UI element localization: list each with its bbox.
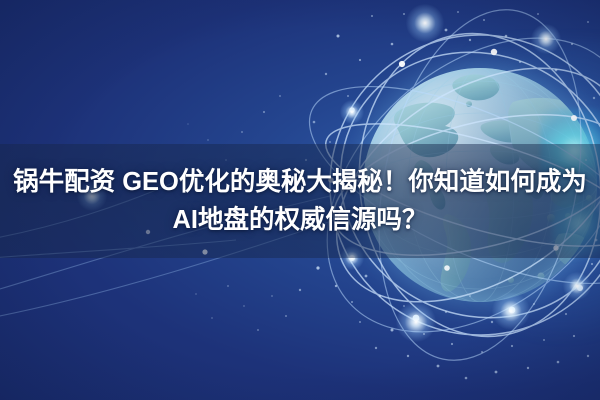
title-line-2: AI地盘的权威信源吗？ (172, 202, 427, 238)
title-line-1: 锅牛配资 GEO优化的奥秘大揭秘！你知道如何成为 (13, 164, 587, 200)
banner-image: 锅牛配资 GEO优化的奥秘大揭秘！你知道如何成为 AI地盘的权威信源吗？ (0, 0, 600, 400)
page-title: 锅牛配资 GEO优化的奥秘大揭秘！你知道如何成为 AI地盘的权威信源吗？ (0, 144, 600, 258)
